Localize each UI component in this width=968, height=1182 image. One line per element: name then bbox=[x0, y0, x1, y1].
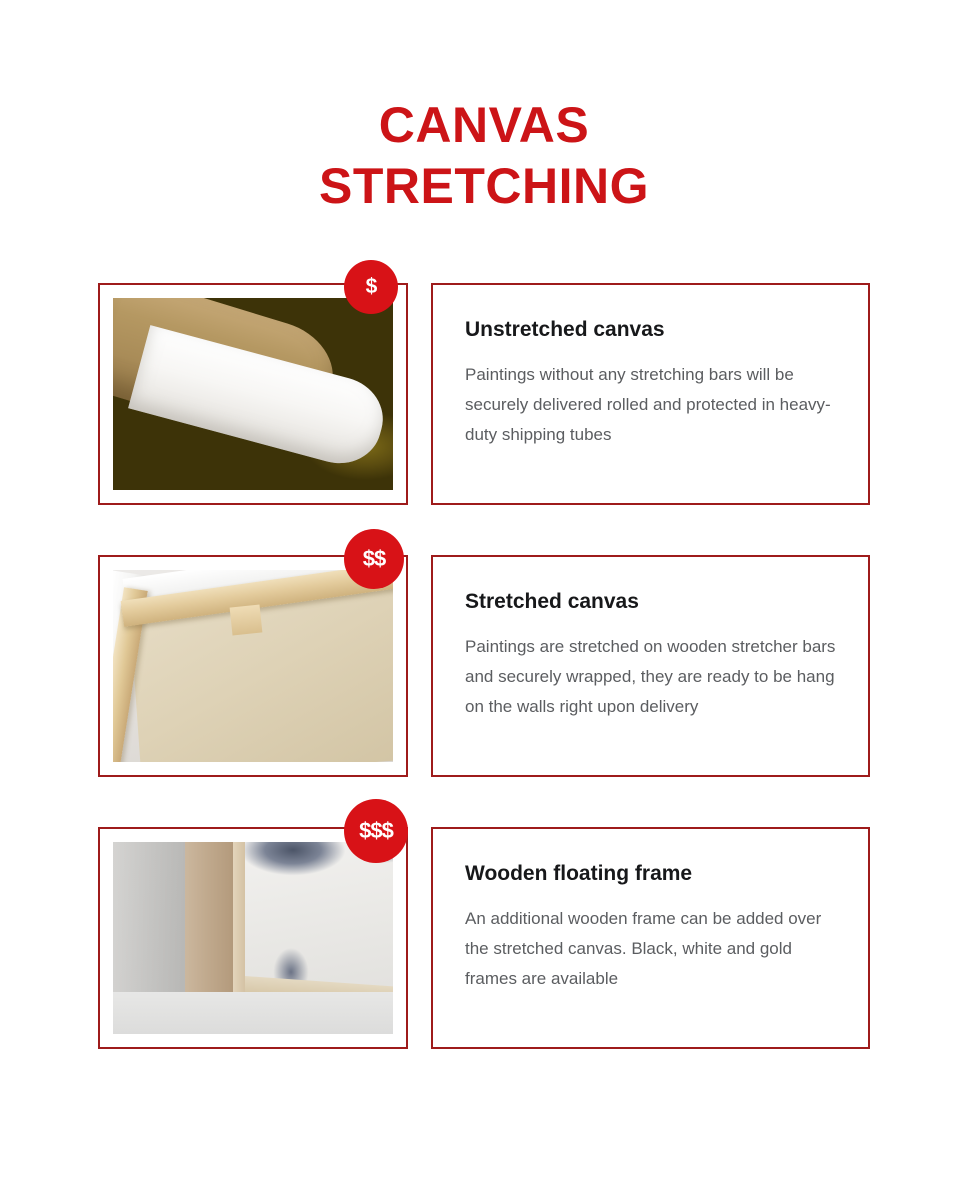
frame-art-panel bbox=[233, 842, 393, 990]
page-root: CANVAS STRETCHING $ Unstretched canvas P… bbox=[0, 0, 968, 1182]
price-badge-1: $ bbox=[344, 260, 398, 314]
option-text-card-2: Stretched canvas Paintings are stretched… bbox=[431, 555, 870, 777]
option-row-wooden-floating-frame: $$$ Wooden floating frame An additional … bbox=[98, 827, 870, 1049]
stretcher-corner-wedge bbox=[230, 605, 263, 636]
options-list: $ Unstretched canvas Paintings without a… bbox=[98, 283, 870, 1049]
wooden-floating-frame-image bbox=[113, 842, 393, 1034]
option-body-1: Paintings without any stretching bars wi… bbox=[465, 360, 838, 450]
option-image-card-2[interactable]: $$ bbox=[98, 555, 408, 777]
option-image-card-1[interactable]: $ bbox=[98, 283, 408, 505]
option-body-3: An additional wooden frame can be added … bbox=[465, 904, 838, 994]
option-heading-3: Wooden floating frame bbox=[465, 861, 838, 887]
option-body-2: Paintings are stretched on wooden stretc… bbox=[465, 632, 838, 722]
stretcher-bars-image bbox=[113, 570, 393, 762]
page-title: CANVAS STRETCHING bbox=[0, 95, 968, 217]
rolled-canvas-tube-image bbox=[113, 298, 393, 490]
price-badge-2: $$ bbox=[344, 529, 404, 589]
option-row-stretched-canvas: $$ Stretched canvas Paintings are stretc… bbox=[98, 555, 870, 777]
option-image-card-3[interactable]: $$$ bbox=[98, 827, 408, 1049]
option-heading-2: Stretched canvas bbox=[465, 589, 838, 615]
frame-floor bbox=[113, 992, 393, 1034]
option-text-card-1: Unstretched canvas Paintings without any… bbox=[431, 283, 870, 505]
option-heading-1: Unstretched canvas bbox=[465, 317, 838, 343]
price-badge-3: $$$ bbox=[344, 799, 408, 863]
frame-wall-shadow bbox=[113, 842, 189, 1004]
option-text-card-3: Wooden floating frame An additional wood… bbox=[431, 827, 870, 1049]
option-row-unstretched-canvas: $ Unstretched canvas Paintings without a… bbox=[98, 283, 870, 505]
page-title-line-2: STRETCHING bbox=[0, 156, 968, 217]
frame-wood-post-face bbox=[233, 842, 245, 1010]
page-title-line-1: CANVAS bbox=[0, 95, 968, 156]
